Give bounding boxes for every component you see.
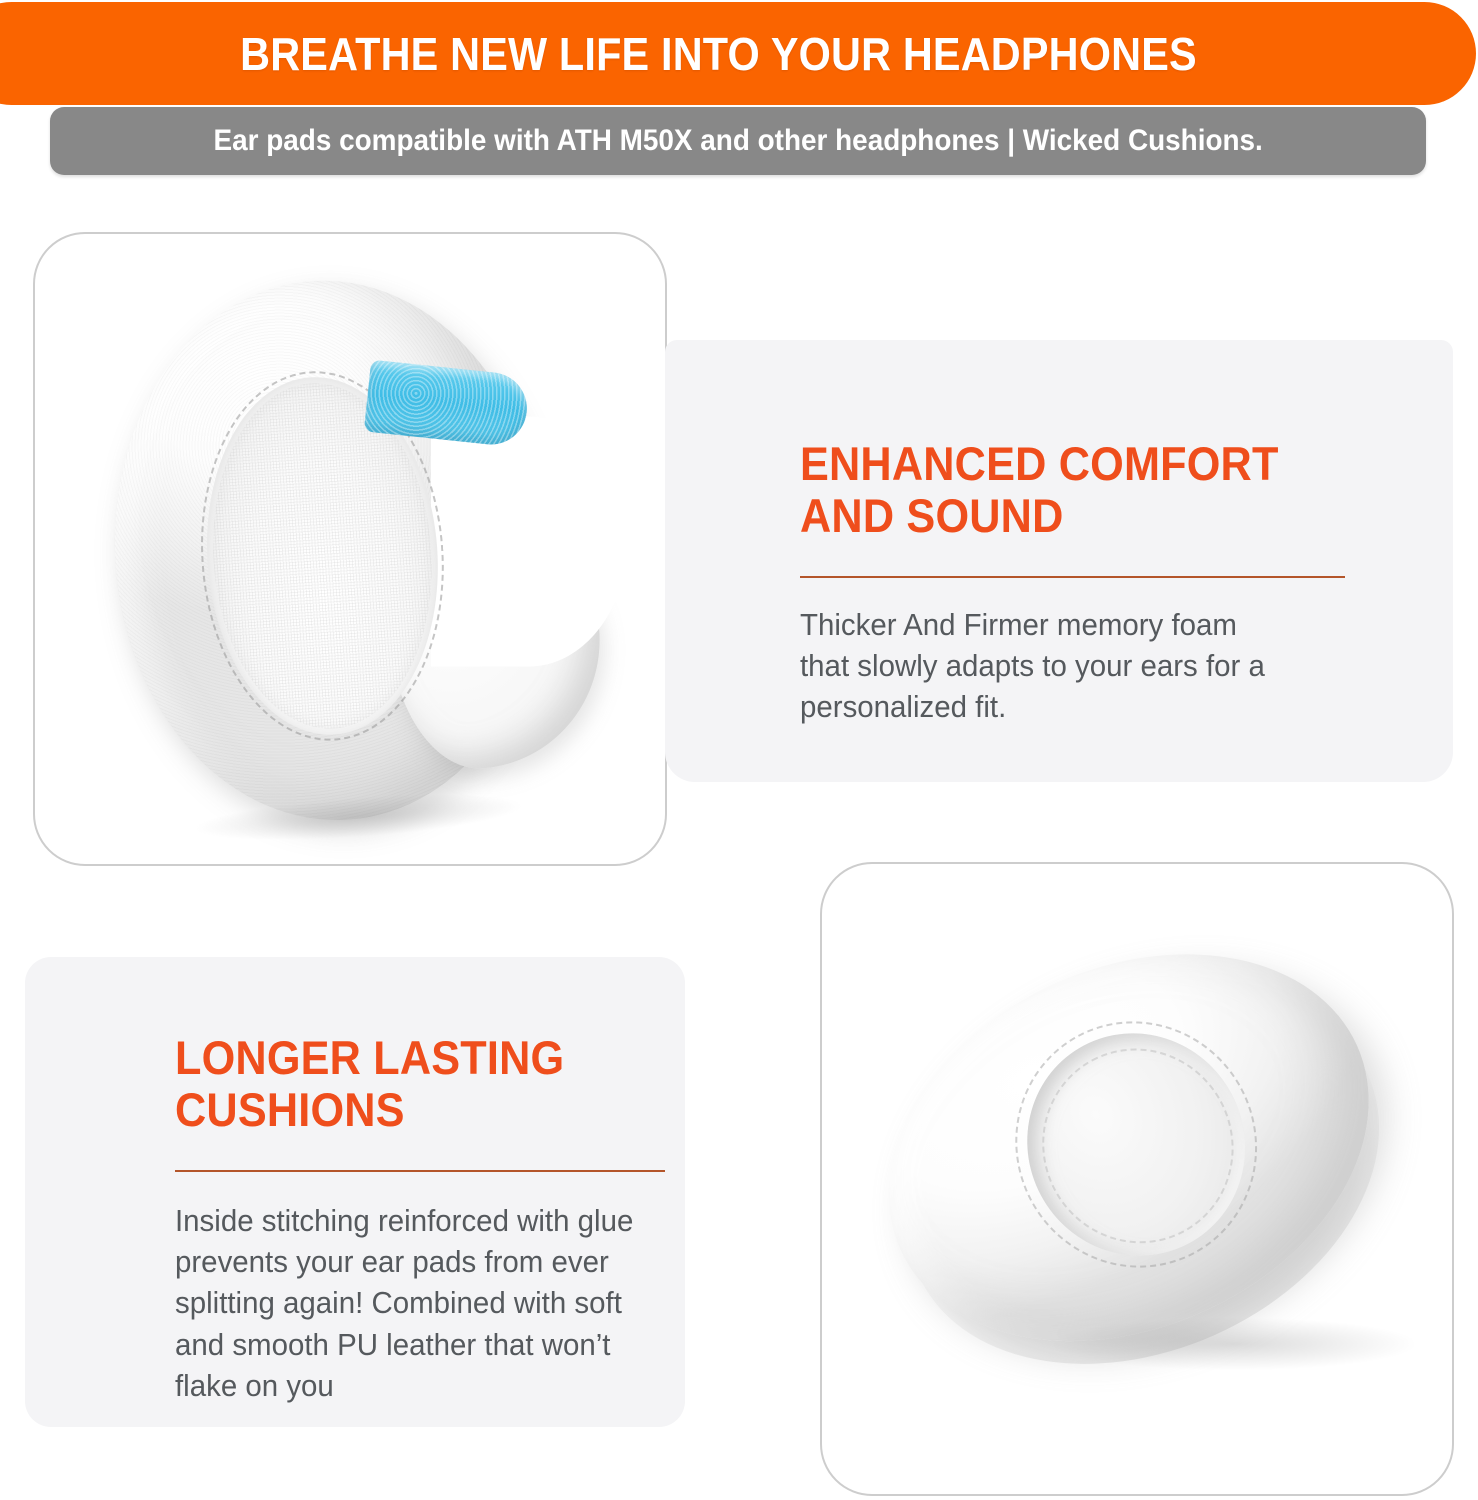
pad-drop-shadow <box>1054 1318 1414 1370</box>
headline-text: BREATHE NEW LIFE INTO YOUR HEADPHONES <box>240 27 1197 81</box>
product-photo-angled-ear-pad <box>820 862 1454 1496</box>
product-photo-cutaway-ear-pad <box>33 232 667 866</box>
subtitle-text: Ear pads compatible with ATH M50X and ot… <box>213 124 1262 158</box>
feature-panel-enhanced-comfort: ENHANCED COMFORT AND SOUND Thicker And F… <box>665 340 1453 782</box>
feature-heading-enhanced-comfort: ENHANCED COMFORT AND SOUND <box>800 438 1370 541</box>
angled-pad-group <box>827 882 1446 1451</box>
cutaway-pad-group <box>97 263 604 834</box>
header-banner: BREATHE NEW LIFE INTO YOUR HEADPHONES Ea… <box>0 0 1478 185</box>
feature-body-enhanced-comfort: Thicker And Firmer memory foam that slow… <box>800 604 1370 728</box>
cutaway-ear-pad-illustration <box>35 234 665 864</box>
headline-banner: BREATHE NEW LIFE INTO YOUR HEADPHONES <box>0 2 1476 105</box>
pad-cutaway-notch <box>431 417 627 667</box>
subtitle-bar: Ear pads compatible with ATH M50X and ot… <box>50 107 1426 175</box>
feature-divider-rule <box>175 1170 665 1172</box>
feature-divider-rule <box>800 576 1345 578</box>
feature-body-longer-lasting-cushions: Inside stitching reinforced with glue pr… <box>175 1200 688 1406</box>
angled-ear-pad-illustration <box>822 864 1452 1494</box>
feature-panel-longer-lasting-cushions: LONGER LASTING CUSHIONS Inside stitching… <box>25 957 685 1427</box>
feature-heading-longer-lasting-cushions: LONGER LASTING CUSHIONS <box>175 1032 690 1135</box>
